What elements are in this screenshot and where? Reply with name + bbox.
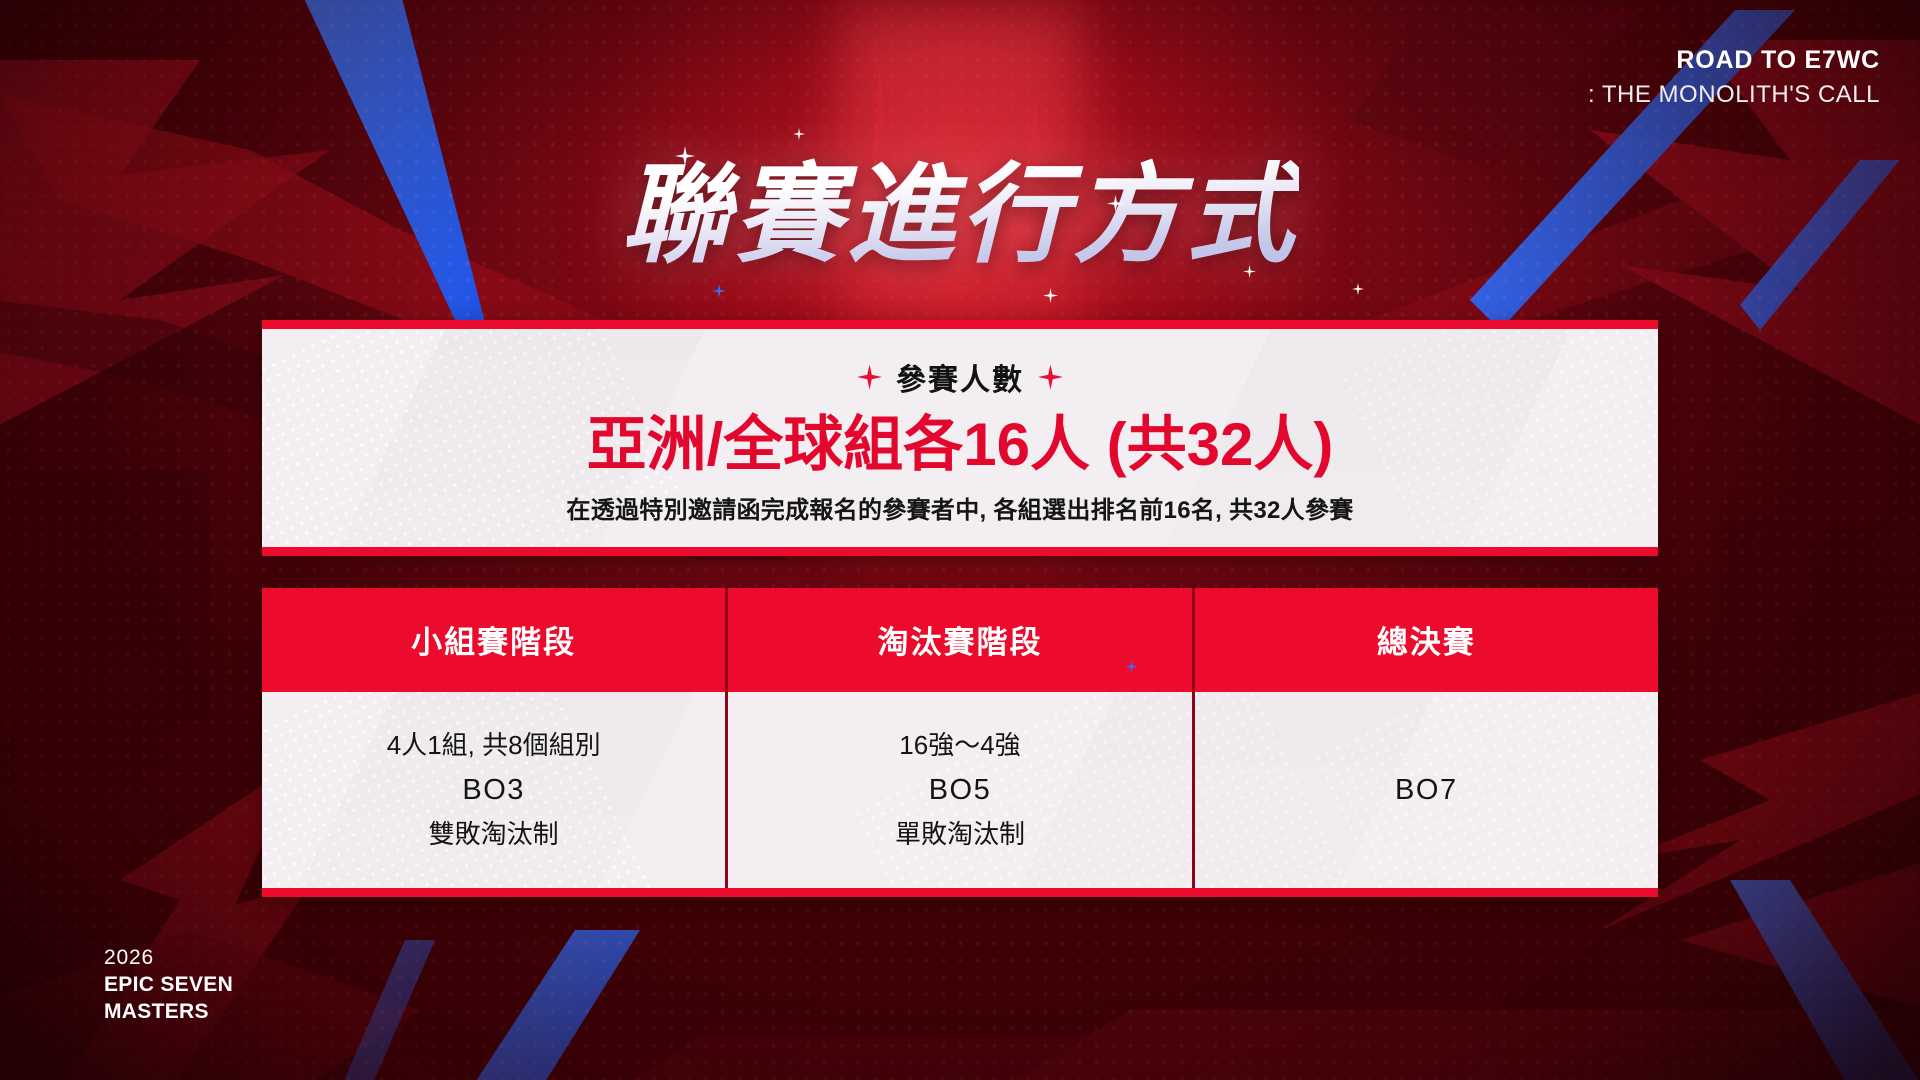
stages-table-header-playoff: 淘汰賽階段 <box>728 588 1194 692</box>
event-tagline: ROAD TO E7WC : THE MONOLITH'S CALL <box>1588 46 1880 110</box>
stages-table-header-row: 小組賽階段 淘汰賽階段 總決賽 <box>262 588 1658 692</box>
cell-line: 4人1組, 共8個組別 <box>387 724 601 766</box>
event-logo-year: 2026 <box>104 945 233 972</box>
panel-top-accent-strip <box>262 320 1658 329</box>
event-logo-name-line2: MASTERS <box>104 999 233 1026</box>
stages-table-cell-final: BO7 <box>1195 692 1658 888</box>
event-logo-name-line1: EPIC SEVEN <box>104 972 233 999</box>
cell-line-bo: BO5 <box>929 767 992 814</box>
stages-table-header-final: 總決賽 <box>1195 588 1658 692</box>
participants-panel: 參賽人數 亞洲/全球組各16人 (共32人) 在透過特別邀請函完成報名的參賽者中… <box>262 320 1658 556</box>
stages-table-cell-playoff: 16強〜4強 BO5 單敗淘汰制 <box>728 692 1194 888</box>
event-tagline-primary: ROAD TO E7WC <box>1588 46 1880 76</box>
four-point-star-icon-left <box>857 365 882 390</box>
page-title: 聯賽進行方式 <box>621 128 1299 284</box>
stages-table-body-row: 4人1組, 共8個組別 BO3 雙敗淘汰制 16強〜4強 BO5 單敗淘汰制 B… <box>262 692 1658 888</box>
participants-sub-heading: 參賽人數 <box>857 355 1063 399</box>
four-point-star-icon-right <box>1038 365 1063 390</box>
stages-table-cell-group: 4人1組, 共8個組別 BO3 雙敗淘汰制 <box>262 692 728 888</box>
stages-table: 小組賽階段 淘汰賽階段 總決賽 4人1組, 共8個組別 BO3 雙敗淘汰制 16… <box>262 588 1658 897</box>
stages-table-header-group: 小組賽階段 <box>262 588 728 692</box>
cell-line-bo: BO3 <box>462 767 525 814</box>
cell-line-bo: BO7 <box>1395 767 1458 814</box>
event-tagline-secondary: : THE MONOLITH'S CALL <box>1588 79 1880 110</box>
cell-line: 雙敗淘汰制 <box>429 813 559 855</box>
panel-bottom-accent-strip <box>262 547 1658 556</box>
event-logo: 2026 EPIC SEVEN MASTERS <box>104 945 233 1026</box>
cell-line: 16強〜4強 <box>899 724 1020 766</box>
participants-panel-body: 參賽人數 亞洲/全球組各16人 (共32人) 在透過特別邀請函完成報名的參賽者中… <box>262 329 1658 547</box>
page-title-area: 聯賽進行方式 <box>0 128 1920 284</box>
participants-headline: 亞洲/全球組各16人 (共32人) <box>262 411 1658 478</box>
participants-sub-heading-label: 參賽人數 <box>896 355 1024 399</box>
cell-line: 單敗淘汰制 <box>895 813 1025 855</box>
participants-description: 在透過特別邀請函完成報名的參賽者中, 各組選出排名前16名, 共32人參賽 <box>262 490 1658 525</box>
table-bottom-accent-strip <box>262 888 1658 897</box>
